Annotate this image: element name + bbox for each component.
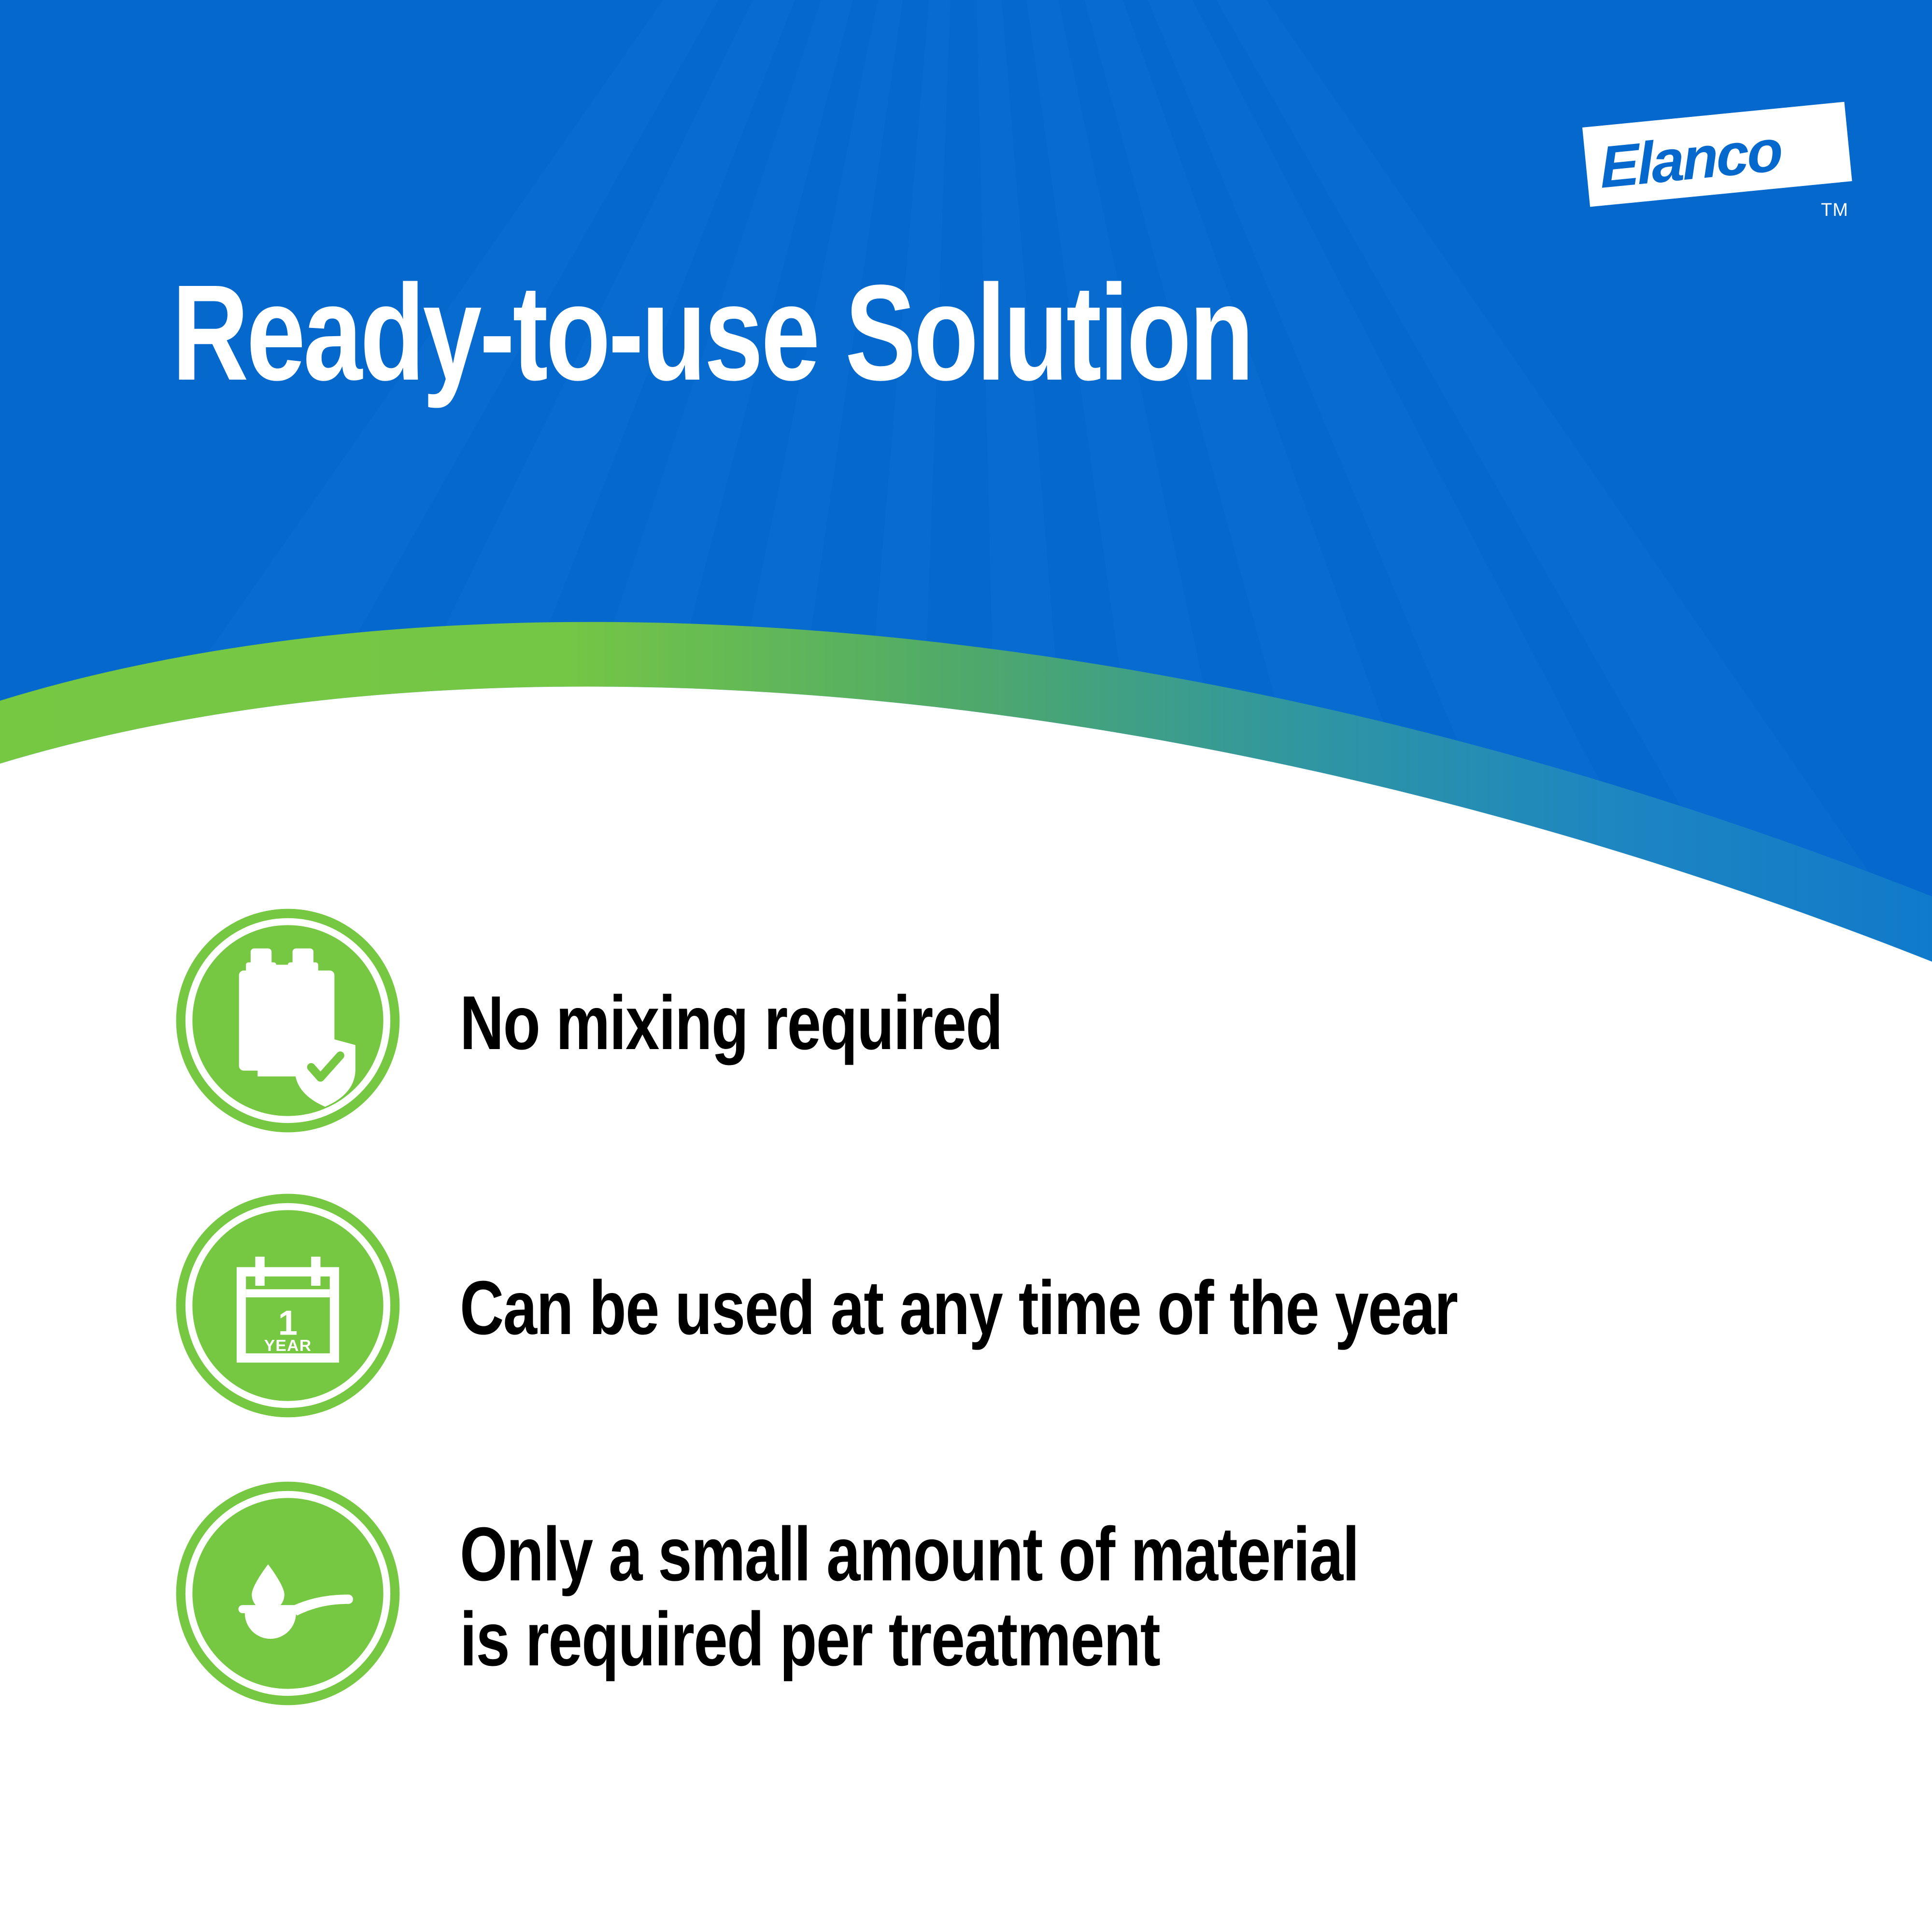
list-item-label-line2: is required per treatment [460,1597,1160,1682]
calendar-unit: YEAR [264,1336,312,1355]
list-item: Only a small amount of materialis requir… [0,1459,1932,1748]
elanco-logo: Elanco TM [1582,128,1858,219]
feature-list: No mixing required [0,898,1932,1748]
list-item-label: No mixing required [460,980,1002,1065]
calendar-one-year-icon: 1 YEAR [171,1189,404,1422]
bottle-shield-icon [171,904,404,1137]
list-item-label: Only a small amount of materialis requir… [460,1512,1359,1682]
slide-canvas: Elanco TM Ready-to-use Solution [0,0,1932,1932]
list-item-label-line1: Only a small amount of material [460,1512,1359,1597]
list-item-label: Can be used at any time of the year [460,1265,1457,1350]
page-title: Ready-to-use Solution [172,265,1252,401]
list-item: No mixing required [0,898,1932,1179]
droplet-spoon-icon [171,1477,404,1710]
list-item: 1 YEAR Can be used at any time of the ye… [0,1179,1932,1459]
logo-trademark: TM [1821,200,1848,221]
